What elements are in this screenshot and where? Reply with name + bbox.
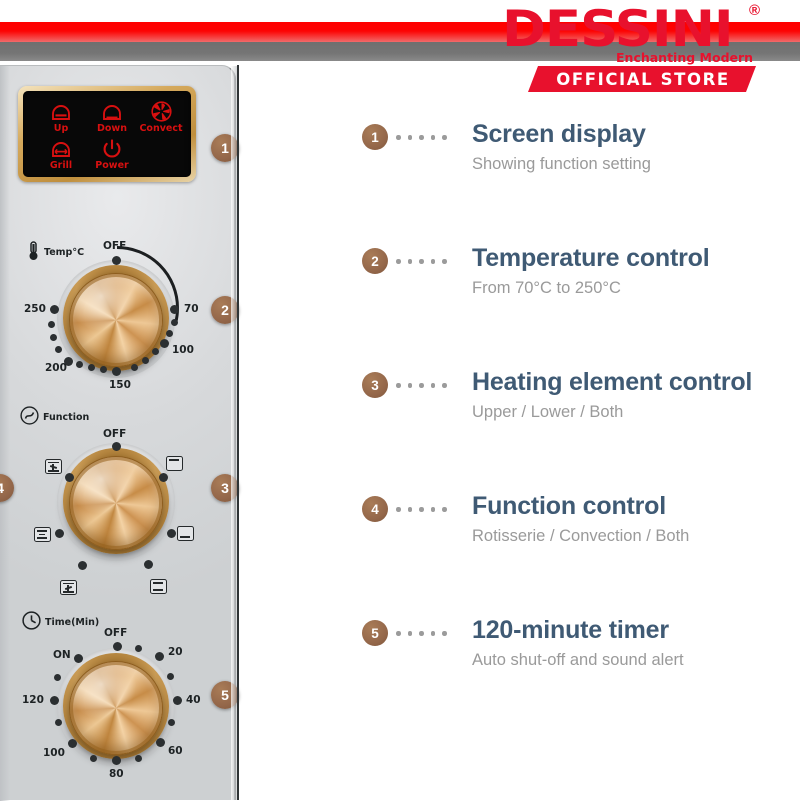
function-control-group: Function OFF bbox=[0, 401, 236, 591]
official-store-ribbon: OFFICIAL STORE bbox=[528, 66, 756, 92]
leader-dots bbox=[396, 631, 447, 636]
temp-dial-label-text: Temp°C bbox=[44, 247, 84, 258]
timer-knob[interactable] bbox=[69, 661, 163, 755]
function-swirl-icon bbox=[20, 406, 39, 428]
timer-label-60: 60 bbox=[168, 745, 183, 757]
timer-minor-tick bbox=[90, 755, 97, 762]
panel-edge-line bbox=[237, 65, 239, 800]
temp-label-200: 200 bbox=[45, 362, 67, 374]
feature-title-3: Heating element control bbox=[472, 366, 752, 399]
timer-off-label: OFF bbox=[104, 627, 127, 639]
timer-tick-on bbox=[74, 654, 83, 663]
screen-item-grill: Grill bbox=[35, 137, 87, 171]
leader-dots bbox=[396, 259, 447, 264]
temp-minor-tick bbox=[152, 348, 159, 355]
screen-label-up: Up bbox=[35, 123, 87, 134]
convection-icon bbox=[60, 580, 77, 595]
temp-label-250: 250 bbox=[24, 303, 46, 315]
screen-item-down: Down bbox=[86, 100, 138, 134]
screen-label-down: Down bbox=[86, 123, 138, 134]
fan-icon bbox=[135, 100, 187, 123]
screen-label-power: Power bbox=[86, 160, 138, 171]
function-tick-rotisserie bbox=[65, 473, 74, 482]
timer-label-20: 20 bbox=[168, 646, 183, 658]
temp-off-label: OFF bbox=[103, 240, 126, 252]
temp-tick-100 bbox=[160, 339, 169, 348]
timer-label-80: 80 bbox=[109, 768, 124, 780]
timer-minor-tick bbox=[167, 673, 174, 680]
temp-minor-tick bbox=[142, 357, 149, 364]
feature-title-1: Screen display bbox=[472, 118, 646, 151]
timer-tick-20 bbox=[155, 652, 164, 661]
screen-item-up: Up bbox=[35, 100, 87, 134]
feature-title-2: Temperature control bbox=[472, 242, 709, 275]
temp-label-70: 70 bbox=[184, 303, 199, 315]
function-tick-combo bbox=[144, 560, 153, 569]
screen-display[interactable]: Up Down bbox=[18, 86, 196, 182]
temp-minor-tick bbox=[131, 364, 138, 371]
power-icon bbox=[86, 137, 138, 160]
screen-label-convect: Convect bbox=[135, 123, 187, 134]
function-off-label: OFF bbox=[103, 428, 126, 440]
temp-minor-tick bbox=[50, 334, 57, 341]
leader-dots bbox=[396, 383, 447, 388]
timer-dial-label: Time(Min) bbox=[22, 611, 99, 633]
temp-tick-off bbox=[112, 256, 121, 265]
feature-subtitle-2: From 70°C to 250°C bbox=[472, 277, 621, 299]
lower-heat-icon bbox=[177, 526, 194, 541]
screen-display-surface: Up Down bbox=[23, 91, 191, 177]
timer-tick-60 bbox=[156, 738, 165, 747]
feature-badge-5: 5 bbox=[362, 620, 388, 646]
function-tick-upper bbox=[159, 473, 168, 482]
clock-icon bbox=[22, 611, 41, 633]
temp-label-150: 150 bbox=[109, 379, 131, 391]
temp-minor-tick bbox=[55, 346, 62, 353]
temp-tick-150 bbox=[112, 367, 121, 376]
temperature-control-group: Temp°C OFF 70 100 150 200 250 bbox=[0, 234, 236, 399]
function-tick-upper-lower bbox=[55, 529, 64, 538]
screen-item-convect: Convect bbox=[135, 100, 187, 134]
feature-subtitle-4: Rotisserie / Convection / Both bbox=[472, 525, 689, 547]
function-dial-label: Function bbox=[20, 406, 89, 428]
feature-row-1: 1 Screen display Showing function settin… bbox=[362, 118, 800, 242]
function-tick-off bbox=[112, 442, 121, 451]
lower-heat-icon bbox=[86, 100, 138, 123]
feature-title-5: 120-minute timer bbox=[472, 614, 669, 647]
feature-subtitle-5: Auto shut-off and sound alert bbox=[472, 649, 684, 671]
grill-icon bbox=[35, 137, 87, 160]
timer-label-40: 40 bbox=[186, 694, 201, 706]
temp-minor-tick bbox=[100, 366, 107, 373]
leader-dots bbox=[396, 135, 447, 140]
timer-tick-off bbox=[113, 642, 122, 651]
feature-badge-2: 2 bbox=[362, 248, 388, 274]
function-tick-lower bbox=[167, 529, 176, 538]
brand-name: DESSINI bbox=[502, 4, 733, 54]
feature-badge-3: 3 bbox=[362, 372, 388, 398]
function-tick-convection bbox=[78, 561, 87, 570]
rotisserie-icon bbox=[45, 459, 62, 474]
temp-tick-70 bbox=[170, 305, 179, 314]
temp-minor-tick bbox=[166, 330, 173, 337]
oven-control-panel: Up Down bbox=[0, 65, 236, 800]
timer-tick-100 bbox=[68, 739, 77, 748]
upper-heat-icon bbox=[166, 456, 183, 471]
timer-label-100: 100 bbox=[43, 747, 65, 759]
temp-tick-250 bbox=[50, 305, 59, 314]
screen-item-power[interactable]: Power bbox=[86, 137, 138, 171]
temp-minor-tick bbox=[76, 361, 83, 368]
timer-on-label: ON bbox=[53, 649, 71, 661]
timer-tick-120 bbox=[50, 696, 59, 705]
feature-badge-1: 1 bbox=[362, 124, 388, 150]
official-store-label: OFFICIAL STORE bbox=[528, 66, 756, 92]
timer-minor-tick bbox=[54, 674, 61, 681]
feature-list: 1 Screen display Showing function settin… bbox=[362, 118, 800, 738]
feature-row-4: 4 Function control Rotisserie / Convecti… bbox=[362, 490, 800, 614]
function-dial-label-text: Function bbox=[43, 412, 89, 423]
feature-badge-4: 4 bbox=[362, 496, 388, 522]
feature-title-4: Function control bbox=[472, 490, 666, 523]
timer-minor-tick bbox=[135, 755, 142, 762]
timer-dial-label-text: Time(Min) bbox=[45, 617, 99, 628]
timer-control-group: Time(Min) OFF ON 20 40 60 80 100 120 bbox=[0, 604, 236, 804]
feature-row-3: 3 Heating element control Upper / Lower … bbox=[362, 366, 800, 490]
upper-heat-icon bbox=[35, 100, 87, 123]
brand-logo: DESSINI ® Enchanting Modern Life OFFICIA… bbox=[498, 0, 766, 96]
timer-minor-tick bbox=[168, 719, 175, 726]
leader-dots bbox=[396, 507, 447, 512]
timer-tick-40 bbox=[173, 696, 182, 705]
temp-minor-tick bbox=[48, 321, 55, 328]
feature-row-2: 2 Temperature control From 70°C to 250°C bbox=[362, 242, 800, 366]
temperature-knob[interactable] bbox=[69, 273, 163, 367]
registered-mark: ® bbox=[749, 2, 760, 19]
combo-icon bbox=[150, 579, 167, 594]
timer-label-120: 120 bbox=[22, 694, 44, 706]
feature-row-5: 5 120-minute timer Auto shut-off and sou… bbox=[362, 614, 800, 738]
temp-dial-label: Temp°C bbox=[27, 241, 84, 264]
feature-subtitle-1: Showing function setting bbox=[472, 153, 651, 175]
temp-minor-tick bbox=[171, 319, 178, 326]
timer-minor-tick bbox=[135, 645, 142, 652]
timer-tick-80 bbox=[112, 756, 121, 765]
function-knob[interactable] bbox=[69, 456, 163, 550]
screen-label-grill: Grill bbox=[35, 160, 87, 171]
upper-lower-heat-icon bbox=[34, 527, 51, 542]
timer-minor-tick bbox=[55, 719, 62, 726]
thermometer-icon bbox=[27, 241, 40, 264]
temp-minor-tick bbox=[88, 364, 95, 371]
temp-label-100: 100 bbox=[172, 344, 194, 356]
feature-subtitle-3: Upper / Lower / Both bbox=[472, 401, 623, 423]
